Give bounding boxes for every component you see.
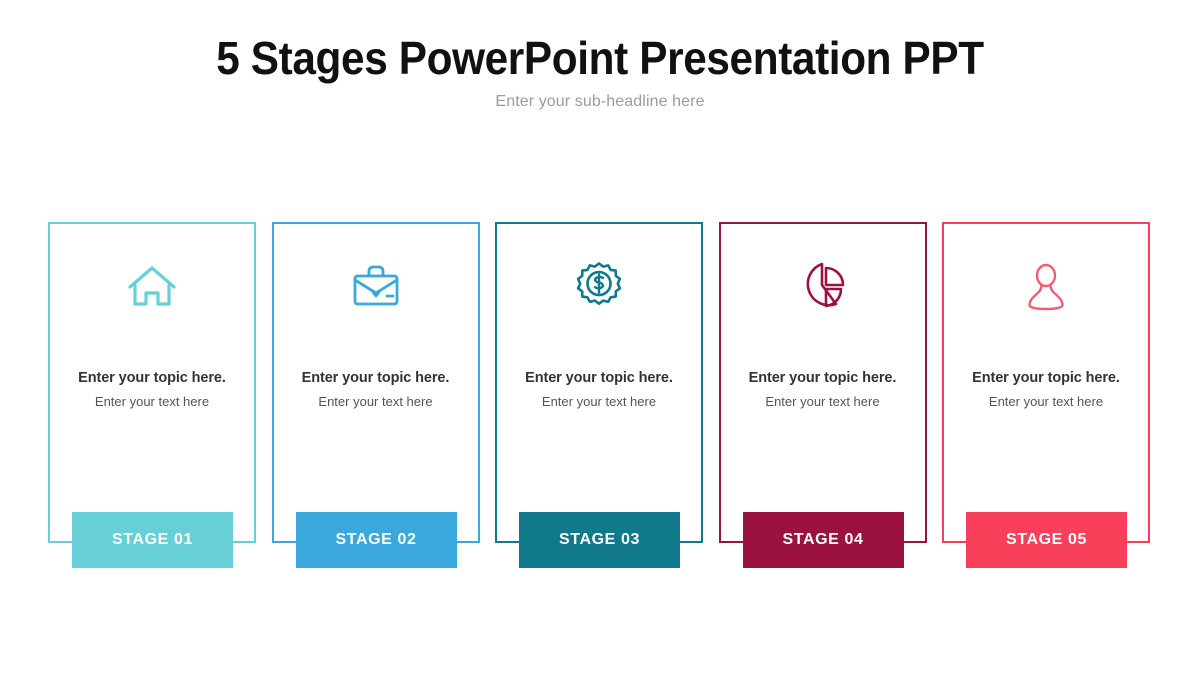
- stage-label-5: STAGE 05: [1006, 531, 1087, 549]
- card-topic-1: Enter your topic here.: [48, 370, 256, 386]
- stage-label-1: STAGE 01: [112, 531, 193, 549]
- pie-chart-icon: [719, 254, 927, 318]
- stage-bar-2[interactable]: STAGE 02: [296, 512, 457, 568]
- page-title: 5 Stages PowerPoint Presentation PPT: [48, 34, 1152, 82]
- card-body-3: Enter your text here: [495, 394, 703, 409]
- card-text-block-4: Enter your topic here. Enter your text h…: [719, 370, 927, 409]
- slide-header: 5 Stages PowerPoint Presentation PPT Ent…: [0, 34, 1200, 111]
- card-body-2: Enter your text here: [272, 394, 480, 409]
- page-subtitle: Enter your sub-headline here: [0, 93, 1200, 111]
- stage-bar-4[interactable]: STAGE 04: [743, 512, 904, 568]
- card-topic-5: Enter your topic here.: [942, 370, 1150, 386]
- stage-card-3[interactable]: Enter your topic here. Enter your text h…: [495, 222, 703, 572]
- stage-label-4: STAGE 04: [783, 531, 864, 549]
- card-topic-4: Enter your topic here.: [719, 370, 927, 386]
- card-text-block-2: Enter your topic here. Enter your text h…: [272, 370, 480, 409]
- card-body-5: Enter your text here: [942, 394, 1150, 409]
- gear-dollar-icon: [495, 254, 703, 318]
- stage-bar-5[interactable]: STAGE 05: [966, 512, 1127, 568]
- stage-bar-1[interactable]: STAGE 01: [72, 512, 233, 568]
- stage-cards-row: Enter your topic here. Enter your text h…: [48, 222, 1150, 572]
- card-topic-3: Enter your topic here.: [495, 370, 703, 386]
- slide-canvas: 5 Stages PowerPoint Presentation PPT Ent…: [0, 0, 1200, 675]
- stage-card-4[interactable]: Enter your topic here. Enter your text h…: [719, 222, 927, 572]
- user-icon: [942, 254, 1150, 318]
- card-text-block-5: Enter your topic here. Enter your text h…: [942, 370, 1150, 409]
- stage-bar-3[interactable]: STAGE 03: [519, 512, 680, 568]
- briefcase-icon: [272, 254, 480, 318]
- stage-label-3: STAGE 03: [559, 531, 640, 549]
- card-body-1: Enter your text here: [48, 394, 256, 409]
- home-icon: [48, 254, 256, 318]
- stage-card-1[interactable]: Enter your topic here. Enter your text h…: [48, 222, 256, 572]
- card-text-block-3: Enter your topic here. Enter your text h…: [495, 370, 703, 409]
- card-body-4: Enter your text here: [719, 394, 927, 409]
- stage-card-5[interactable]: Enter your topic here. Enter your text h…: [942, 222, 1150, 572]
- card-text-block-1: Enter your topic here. Enter your text h…: [48, 370, 256, 409]
- card-topic-2: Enter your topic here.: [272, 370, 480, 386]
- stage-card-2[interactable]: Enter your topic here. Enter your text h…: [272, 222, 480, 572]
- stage-label-2: STAGE 02: [336, 531, 417, 549]
